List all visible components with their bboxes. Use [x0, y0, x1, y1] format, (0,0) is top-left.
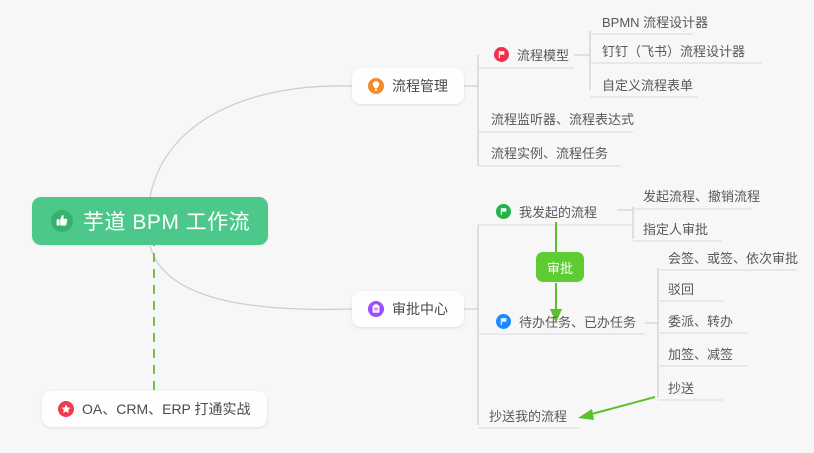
node-carbon-copy[interactable]: 抄送 [666, 373, 698, 401]
node-carbon-copy-label: 抄送 [668, 378, 694, 397]
green-arrow-carbon-copy [578, 397, 655, 420]
node-todo-done-tasks-label: 待办任务、已办任务 [519, 312, 636, 331]
node-add-remove-sign[interactable]: 加签、减签 [666, 339, 737, 367]
wire-root-to-process-management [150, 86, 352, 197]
node-process-listener-expression-label: 流程监听器、流程表达式 [491, 109, 634, 128]
node-process-listener-expression[interactable]: 流程监听器、流程表达式 [489, 104, 638, 132]
flag-icon [494, 47, 509, 62]
node-cc-to-me-process[interactable]: 抄送我的流程 [487, 401, 571, 429]
node-countersign-orsign-sequential-label: 会签、或签、依次审批 [668, 248, 798, 267]
node-add-remove-sign-label: 加签、减签 [668, 344, 733, 363]
approval-tag-label: 审批 [547, 258, 573, 277]
node-process-instance-task[interactable]: 流程实例、流程任务 [489, 138, 612, 166]
star-icon [58, 401, 74, 417]
node-process-instance-task-label: 流程实例、流程任务 [491, 143, 608, 162]
node-delegate-transfer[interactable]: 委派、转办 [666, 306, 737, 334]
node-designated-approver-label: 指定人审批 [643, 219, 708, 238]
branch-approval-center[interactable]: 审批中心 [352, 291, 464, 327]
flag-icon [496, 314, 511, 329]
clipboard-icon [368, 301, 384, 317]
node-reject-label: 驳回 [668, 279, 694, 298]
node-my-initiated-process-label: 我发起的流程 [519, 202, 597, 221]
approval-tag[interactable]: 审批 [536, 252, 584, 282]
branch-approval-center-label: 审批中心 [392, 299, 448, 319]
thumbs-up-icon [50, 209, 74, 233]
node-start-cancel-process[interactable]: 发起流程、撤销流程 [641, 181, 764, 209]
node-process-model[interactable]: 流程模型 [492, 40, 573, 68]
root-node[interactable]: 芋道 BPM 工作流 [32, 197, 268, 245]
node-countersign-orsign-sequential[interactable]: 会签、或签、依次审批 [666, 243, 802, 271]
lightbulb-icon [368, 78, 384, 94]
node-cc-to-me-process-label: 抄送我的流程 [489, 406, 567, 425]
mindmap-canvas: 芋道 BPM 工作流 流程管理 流程模型 BPMN 流程设计器 钉钉（飞书）流程 [0, 0, 814, 453]
node-bpmn-designer-label: BPMN 流程设计器 [602, 12, 708, 31]
node-start-cancel-process-label: 发起流程、撤销流程 [643, 186, 760, 205]
node-bpmn-designer[interactable]: BPMN 流程设计器 [600, 7, 712, 35]
node-dingtalk-feishu-designer-label: 钉钉（飞书）流程设计器 [602, 41, 745, 60]
node-my-initiated-process[interactable]: 我发起的流程 [494, 197, 601, 225]
node-process-model-label: 流程模型 [517, 45, 569, 64]
floating-node-oa-crm-erp-label: OA、CRM、ERP 打通实战 [82, 399, 251, 419]
branch-process-management[interactable]: 流程管理 [352, 68, 464, 104]
node-custom-process-form[interactable]: 自定义流程表单 [600, 70, 697, 98]
wire-root-to-approval-center [150, 246, 352, 309]
node-todo-done-tasks[interactable]: 待办任务、已办任务 [494, 307, 640, 335]
floating-node-oa-crm-erp[interactable]: OA、CRM、ERP 打通实战 [42, 391, 267, 427]
node-reject[interactable]: 驳回 [666, 274, 698, 302]
node-dingtalk-feishu-designer[interactable]: 钉钉（飞书）流程设计器 [600, 36, 749, 64]
node-custom-process-form-label: 自定义流程表单 [602, 75, 693, 94]
branch-process-management-label: 流程管理 [392, 76, 448, 96]
root-label: 芋道 BPM 工作流 [83, 206, 250, 236]
flag-icon [496, 204, 511, 219]
node-designated-approver[interactable]: 指定人审批 [641, 214, 712, 242]
node-delegate-transfer-label: 委派、转办 [668, 311, 733, 330]
